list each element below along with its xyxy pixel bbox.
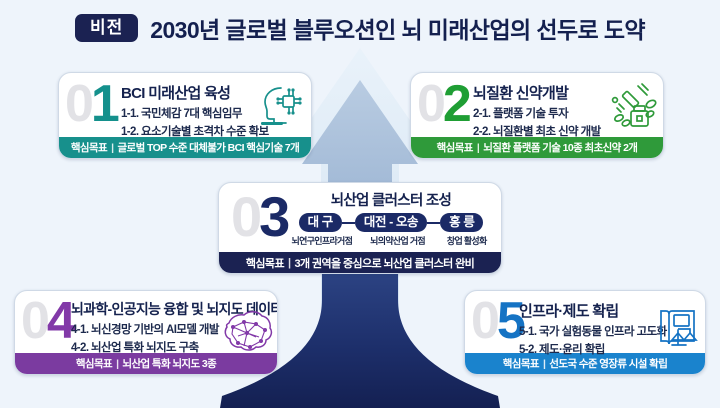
header: 비전 2030년 글로벌 블루오션인 뇌 미래산업의 선두로 도약 xyxy=(0,6,720,50)
card-5-line-2: 5-2. 제도·윤리 확립 xyxy=(519,341,667,357)
card-3-goal-label: 핵심목표 xyxy=(246,255,284,271)
region-caption-hongneung: 창업 활성화 xyxy=(438,234,495,247)
card-1-line-1: 1-1. 국민체감 7대 핵심임무 xyxy=(121,105,269,121)
card-5-goal-label: 핵심목표 xyxy=(503,356,539,371)
card-4-number: 04 xyxy=(21,295,73,347)
strategy-card-4[interactable]: 04 뇌과학-인공지능 융합 및 뇌지도 데이터 4-1. 뇌신경망 기반의 A… xyxy=(14,290,278,375)
book-scales-icon xyxy=(655,305,701,351)
card-2-text: 뇌질환 신약개발 2-1. 플랫폼 기술 투자 2-2. 뇌질환별 최초 신약 … xyxy=(473,82,601,139)
strategy-card-3[interactable]: 03 뇌산업 클러스터 조성 대 구 대전 - 오송 홍 릉 뇌연구인프라거점 … xyxy=(218,182,502,274)
card-4-goal-text: 뇌산업 특화 뇌지도 3종 xyxy=(122,356,216,371)
card-1-line-2: 1-2. 요소기술별 초격차 수준 확보 xyxy=(121,123,269,139)
card-5-body: 05 인프라·제도 확립 5-1. 국가 실험동물 인프라 고도화 5-2. 제… xyxy=(465,291,705,353)
card-2-goal-label: 핵심목표 xyxy=(437,140,473,155)
strategy-card-1[interactable]: 01 BCI 미래산업 육성 1-1. 국민체감 7대 핵심임무 1-2. 요소… xyxy=(58,72,312,159)
syringe-pills-icon xyxy=(607,82,657,130)
card-5-goal-text: 선도국 수준 영장류 시설 확립 xyxy=(549,356,667,371)
page-title: 2030년 글로벌 블루오션인 뇌 미래산업의 선두로 도약 xyxy=(150,11,645,45)
card-1-goal-sep: | xyxy=(111,142,113,154)
card-4-goal-label: 핵심목표 xyxy=(76,356,112,371)
region-pill-daegu[interactable]: 대 구 xyxy=(299,213,342,232)
region-caption-daegu: 뇌연구인프라거점 xyxy=(287,234,357,247)
card-4-goal-sep: | xyxy=(116,358,118,370)
card-2-line-2: 2-2. 뇌질환별 최초 신약 개발 xyxy=(473,123,601,139)
card-1-number: 01 xyxy=(65,78,117,130)
card-3-title: 뇌산업 클러스터 조성 xyxy=(287,189,495,210)
region-caption-daejeon-osong: 뇌의약산업 거점 xyxy=(363,234,433,247)
region-pill-row: 대 구 대전 - 오송 홍 릉 xyxy=(287,213,495,232)
card-2-goal-text: 뇌질환 플랫폼 기술 10종 최초신약 2개 xyxy=(483,140,637,155)
card-4-goal-bar: 핵심목표 | 뇌산업 특화 뇌지도 3종 xyxy=(15,353,277,374)
head-circuit-icon xyxy=(253,82,305,130)
card-3-goal-sep: | xyxy=(288,257,290,269)
card-1-goal-bar: 핵심목표 | 글로벌 TOP 수준 대체불가 BCI 핵심기술 7개 xyxy=(59,137,311,158)
card-2-body: 02 뇌질환 신약개발 2-1. 플랫폼 기술 투자 2-2. 뇌질환별 최초 … xyxy=(411,73,663,137)
region-pill-daejeon-osong[interactable]: 대전 - 오송 xyxy=(355,213,427,232)
strategy-card-5[interactable]: 05 인프라·제도 확립 5-1. 국가 실험동물 인프라 고도화 5-2. 제… xyxy=(464,290,706,375)
card-1-text: BCI 미래산업 육성 1-1. 국민체감 7대 핵심임무 1-2. 요소기술별… xyxy=(121,82,269,139)
card-3-goal-bar: 핵심목표 | 3개 권역을 중심으로 뇌산업 클러스터 완비 xyxy=(219,252,501,273)
card-1-goal-text: 글로벌 TOP 수준 대체불가 BCI 핵심기술 7개 xyxy=(117,140,299,155)
card-2-line-1: 2-1. 플랫폼 기술 투자 xyxy=(473,105,601,121)
vision-badge: 비전 xyxy=(75,14,138,42)
brain-network-icon xyxy=(215,309,273,355)
card-5-number: 05 xyxy=(471,295,523,347)
card-3-body: 03 뇌산업 클러스터 조성 대 구 대전 - 오송 홍 릉 뇌연구인프라거점 … xyxy=(219,183,501,252)
card-2-title: 뇌질환 신약개발 xyxy=(473,82,601,103)
card-1-title: BCI 미래산업 육성 xyxy=(121,82,269,103)
card-5-text: 인프라·제도 확립 5-1. 국가 실험동물 인프라 고도화 5-2. 제도·윤… xyxy=(519,300,667,357)
card-5-goal-sep: | xyxy=(543,358,545,370)
card-5-line-1: 5-1. 국가 실험동물 인프라 고도화 xyxy=(519,323,667,339)
card-4-body: 04 뇌과학-인공지능 융합 및 뇌지도 데이터 4-1. 뇌신경망 기반의 A… xyxy=(15,291,277,353)
pill-connector-1 xyxy=(342,222,355,224)
strategy-card-2[interactable]: 02 뇌질환 신약개발 2-1. 플랫폼 기술 투자 2-2. 뇌질환별 최초 … xyxy=(410,72,664,159)
region-pill-hongneung[interactable]: 홍 릉 xyxy=(440,213,483,232)
card-2-goal-bar: 핵심목표 | 뇌질환 플랫폼 기술 10종 최초신약 2개 xyxy=(411,137,663,158)
pill-connector-2 xyxy=(427,222,440,224)
infographic-canvas: 비전 2030년 글로벌 블루오션인 뇌 미래산업의 선두로 도약 01 BCI… xyxy=(0,0,720,408)
card-1-body: 01 BCI 미래산업 육성 1-1. 국민체감 7대 핵심임무 1-2. 요소… xyxy=(59,73,311,137)
card-3-number: 03 xyxy=(231,188,287,244)
card-2-goal-sep: | xyxy=(477,142,479,154)
card-3-goal-text: 3개 권역을 중심으로 뇌산업 클러스터 완비 xyxy=(294,255,474,271)
card-5-title: 인프라·제도 확립 xyxy=(519,300,667,321)
card-3-text: 뇌산업 클러스터 조성 대 구 대전 - 오송 홍 릉 뇌연구인프라거점 뇌의약… xyxy=(287,189,495,247)
card-1-goal-label: 핵심목표 xyxy=(71,140,107,155)
card-2-number: 02 xyxy=(417,78,469,130)
region-caption-row: 뇌연구인프라거점 뇌의약산업 거점 창업 활성화 xyxy=(287,234,495,247)
